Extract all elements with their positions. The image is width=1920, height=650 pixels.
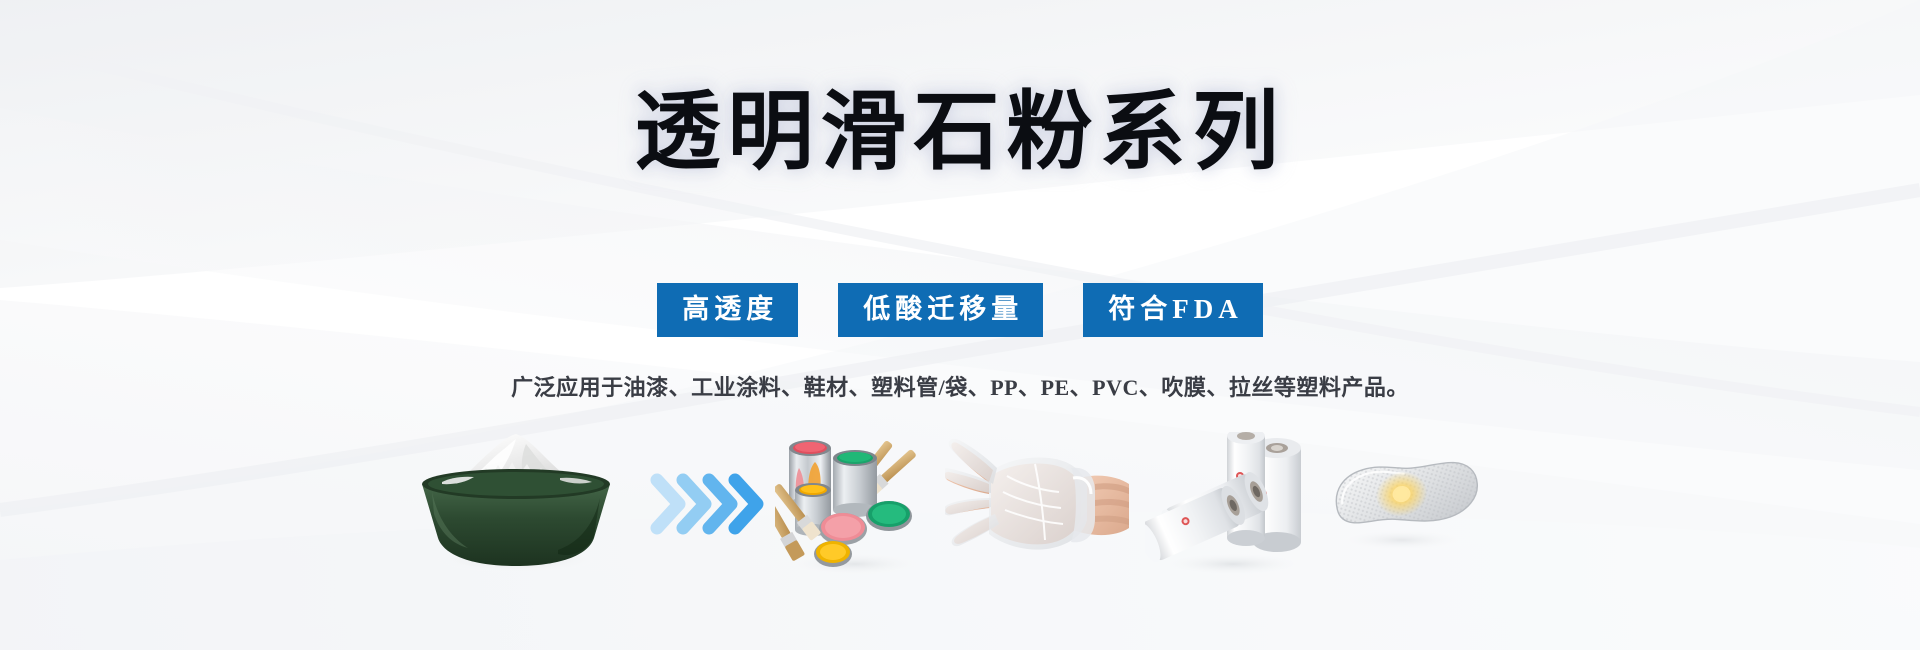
banner-description: 广泛应用于油漆、工业涂料、鞋材、塑料管/袋、PP、PE、PVC、吹膜、拉丝等塑料… (0, 370, 1920, 402)
application-strip (0, 432, 1920, 582)
product-banner: 透明滑石粉系列 高透度 低酸迁移量 符合FDA 广泛应用于油漆、工业涂料、鞋材、… (0, 0, 1920, 650)
shoe-sole-image (1320, 432, 1485, 577)
feature-badge-fda-compliant[interactable]: 符合FDA (1083, 283, 1263, 337)
gloved-hand-image (945, 432, 1130, 577)
paint-cans-image (775, 432, 940, 582)
feature-badge-high-transparency[interactable]: 高透度 (657, 283, 798, 337)
feature-badge-low-acid-migration[interactable]: 低酸迁移量 (838, 283, 1043, 337)
talc-powder-in-bowl-image (408, 432, 623, 577)
plastic-film-rolls-image (1145, 432, 1315, 582)
page-title: 透明滑石粉系列 (635, 86, 1286, 179)
banner-title-wrap: 透明滑石粉系列 (0, 86, 1920, 179)
process-arrows-icon (645, 432, 770, 577)
feature-badge-list: 高透度 低酸迁移量 符合FDA (0, 283, 1920, 337)
